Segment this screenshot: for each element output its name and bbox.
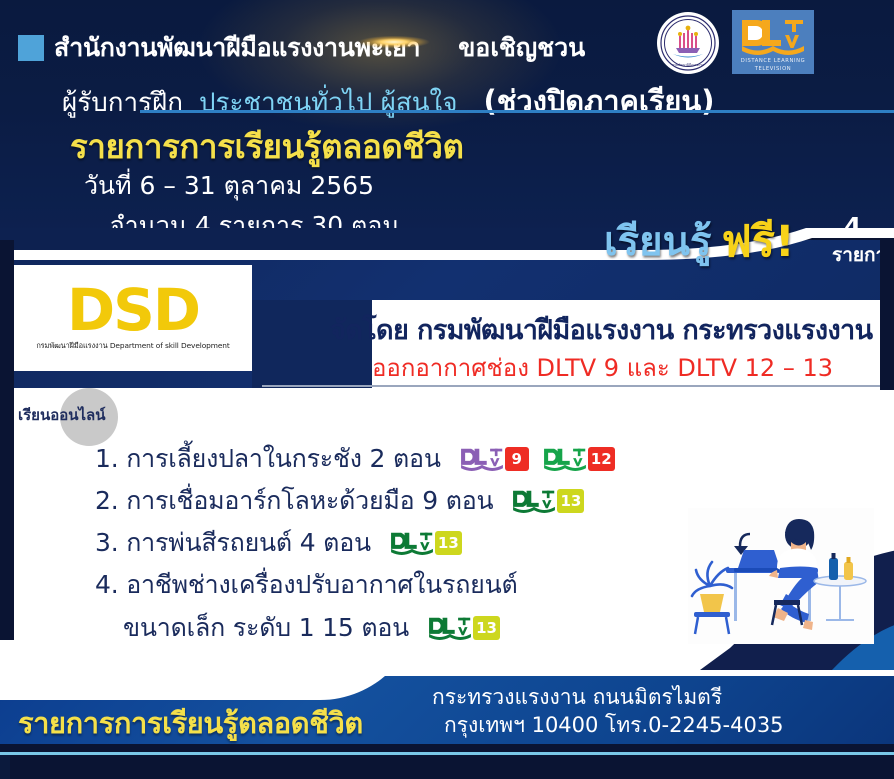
course-title: 3. การพ่นสีรถยนต์ 4 ตอน [95,523,371,563]
footer-address-line-3: กรุงเทพฯ 10400 โทร.0-2245-4035 [418,712,888,740]
footer-address: กรมพัฒนาฝีมือแรงงาน กระทรวงแรงงาน ถนนมิต… [418,656,888,740]
footer-title: รายการการเรียนรู้ตลอดชีวิต [18,700,363,746]
trainee-row: ผู้รับการฝึก ประชาชนทั่วไป ผู้สนใจ (ช่วง… [62,78,714,124]
free-banner-free: ฟรี! [721,207,794,275]
woman-working-on-laptop-illustration [688,508,874,644]
channel-badge-group: 13 [389,530,462,557]
broadcast-channels-line: ออกอากาศช่อง DLTV 9 และ DLTV 12 – 13 [372,348,833,387]
course-title: 4. อาชีพช่างเครื่องปรับอากาศในรถยนต์ [95,565,518,605]
course-row: 1. การเลี้ยงปลาในกระชัง 2 ตอน912 [95,438,715,480]
dsd-logo-card: DSD กรมพัฒนาฝีมือแรงงาน Department of sk… [14,265,252,371]
trainee-label: ผู้รับการฝึก [62,82,183,123]
right-navy-border [880,240,894,390]
free-badge-banner: เรียนรู้ ฟรี! 4 รายการ [604,210,894,272]
blue-square-bullet-icon [18,35,44,61]
dltv-badge-mark-icon [389,530,435,557]
organizer-divider [262,385,894,387]
dltv-badge-mark-icon [459,446,505,473]
footer-address-line-2: กระทรวงแรงงาน ถนนมิตรไมตรี [418,684,888,712]
svg-text:กรมพัฒนาฝีมือแรงงาน: กรมพัฒนาฝีมือแรงงาน [672,62,704,67]
dltv-channel-badge[interactable]: 13 [427,615,500,642]
course-title: 1. การเลี้ยงปลาในกระชัง 2 ตอน [95,439,441,479]
footer-white-curve [0,640,440,700]
office-name: สำนักงานพัฒนาฝีมือแรงงานพะเยา [54,28,420,68]
semester-note: (ช่วงปิดภาคเรียน) [484,78,715,124]
dltv-channel-badge[interactable]: 13 [511,488,584,515]
channel-badge-group: 13 [511,488,584,515]
online-learning-label: เรียนออนไลน์ [18,403,106,427]
header-divider [140,110,894,113]
dsd-acronym: DSD [67,284,199,337]
left-navy-border [0,240,14,680]
channel-badge-group: 912 [459,446,615,473]
dltv-channel-number: 12 [588,447,615,471]
dltv-badge-mark-icon [542,446,588,473]
dltv-badge-mark-icon [427,615,473,642]
trainee-value: ประชาชนทั่วไป ผู้สนใจ [199,82,458,123]
channel-badge-group: 13 [427,615,500,642]
dltv-logo-mark-icon [740,16,806,56]
dltv-channel-number: 9 [505,447,529,471]
program-date-range: วันที่ 6 – 31 ตุลาคม 2565 [84,166,374,206]
dltv-channel-number: 13 [557,489,584,513]
dltv-channel-badge[interactable]: 12 [542,446,615,473]
dltv-logo-subtitle: DISTANCE LEARNING TELEVISION [736,58,810,73]
dltv-badge-mark-icon [511,488,557,515]
free-banner-learn: เรียนรู้ [604,209,711,273]
dltv-channel-badge[interactable]: 13 [389,530,462,557]
government-seal-icon: กรมพัฒนาฝีมือแรงงาน [657,12,719,74]
bottom-fill-bar [0,755,894,779]
course-row: 2. การเชื่อมอาร์กโลหะด้วยมือ 9 ตอน13 [95,480,715,522]
dltv-channel-number: 13 [435,531,462,555]
footer-address-line-1: กรมพัฒนาฝีมือแรงงาน [418,656,888,684]
header-office-row: สำนักงานพัฒนาฝีมือแรงงานพะเยา ขอเชิญชวน [18,28,585,68]
dltv-logo: DISTANCE LEARNING TELEVISION [732,10,814,74]
free-banner-number: 4 [844,212,861,241]
dltv-channel-number: 13 [473,616,500,640]
dltv-channel-badge[interactable]: 9 [459,446,529,473]
organizer-line: จัดโดย กรมพัฒนาฝีมือแรงงาน กระทรวงแรงงาน [330,308,872,351]
invite-text: ขอเชิญชวน [458,28,585,68]
dsd-subtitle: กรมพัฒนาฝีมือแรงงาน Department of skill … [36,340,229,352]
header-section: สำนักงานพัฒนาฝีมือแรงงานพะเยา ขอเชิญชวน … [0,0,894,238]
course-title: 2. การเชื่อมอาร์กโลหะด้วยมือ 9 ตอน [95,481,493,521]
poster-root: สำนักงานพัฒนาฝีมือแรงงานพะเยา ขอเชิญชวน … [0,0,894,779]
